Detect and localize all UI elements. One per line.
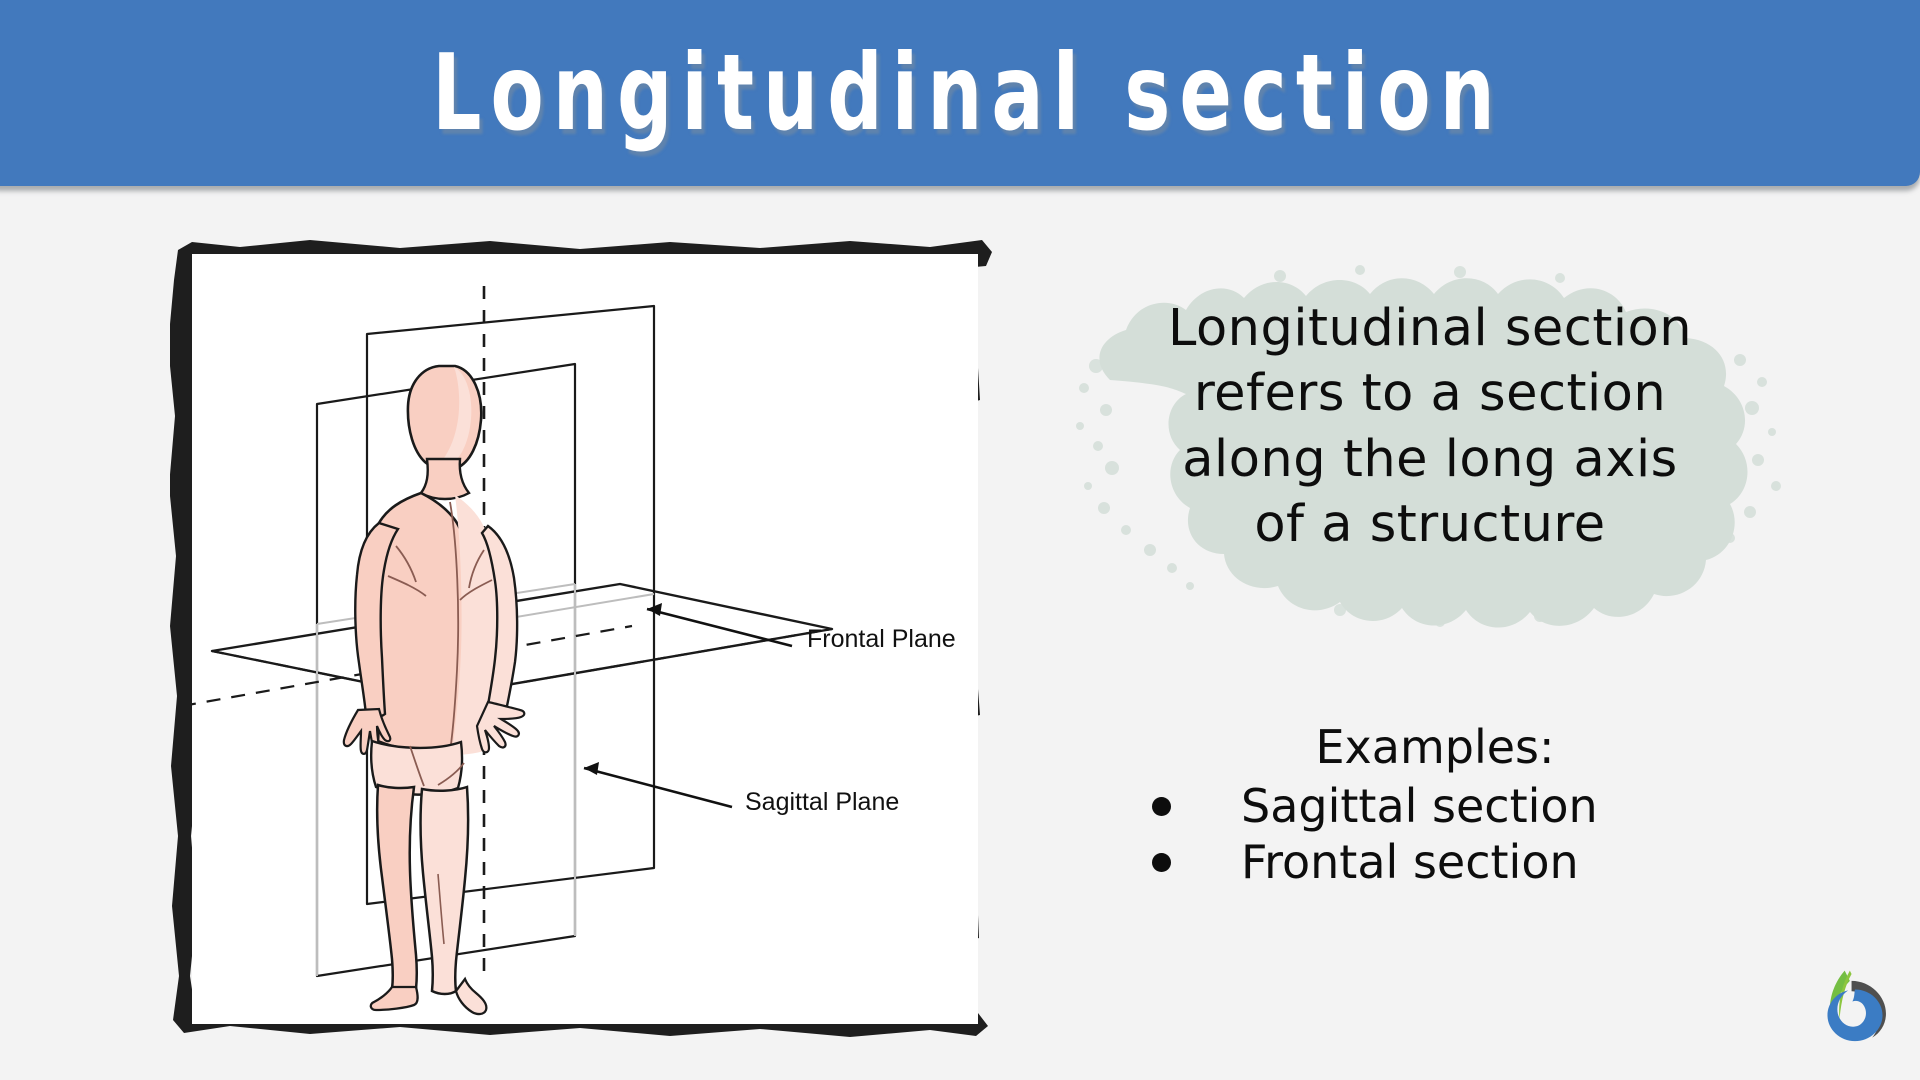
header: Longitudinal section [0, 0, 1920, 196]
definition-text: Longitudinal section refers to a section… [1040, 296, 1820, 557]
list-item: Sagittal section [1100, 778, 1740, 834]
examples-list: Sagittal section Frontal section [1100, 778, 1740, 890]
definition-line-4: of a structure [1040, 492, 1820, 557]
examples-heading: Examples: [1100, 720, 1740, 774]
definition-panel: Longitudinal section refers to a section… [1040, 250, 1820, 670]
sagittal-plane-label: Sagittal Plane [745, 788, 899, 817]
examples-panel: Examples: Sagittal section Frontal secti… [1100, 720, 1740, 890]
bullet-icon [1152, 853, 1171, 872]
definition-line-3: along the long axis [1040, 427, 1820, 492]
label-leader-lines [584, 603, 792, 807]
biology-online-logo[interactable] [1812, 962, 1898, 1048]
definition-line-2: refers to a section [1040, 361, 1820, 426]
list-item: Frontal section [1100, 834, 1740, 890]
diagram-canvas: Frontal Plane Sagittal Plane [192, 254, 978, 1024]
slide-root: Longitudinal section [0, 0, 1920, 1080]
bullet-icon [1152, 797, 1171, 816]
definition-line-1: Longitudinal section [1040, 296, 1820, 361]
diagram-panel: Frontal Plane Sagittal Plane [170, 236, 1000, 1042]
page-title: Longitudinal section [174, 0, 1762, 186]
example-label: Frontal section [1241, 834, 1579, 890]
example-label: Sagittal section [1241, 778, 1598, 834]
frontal-plane-label: Frontal Plane [807, 625, 956, 654]
human-body-figure [344, 366, 524, 1014]
